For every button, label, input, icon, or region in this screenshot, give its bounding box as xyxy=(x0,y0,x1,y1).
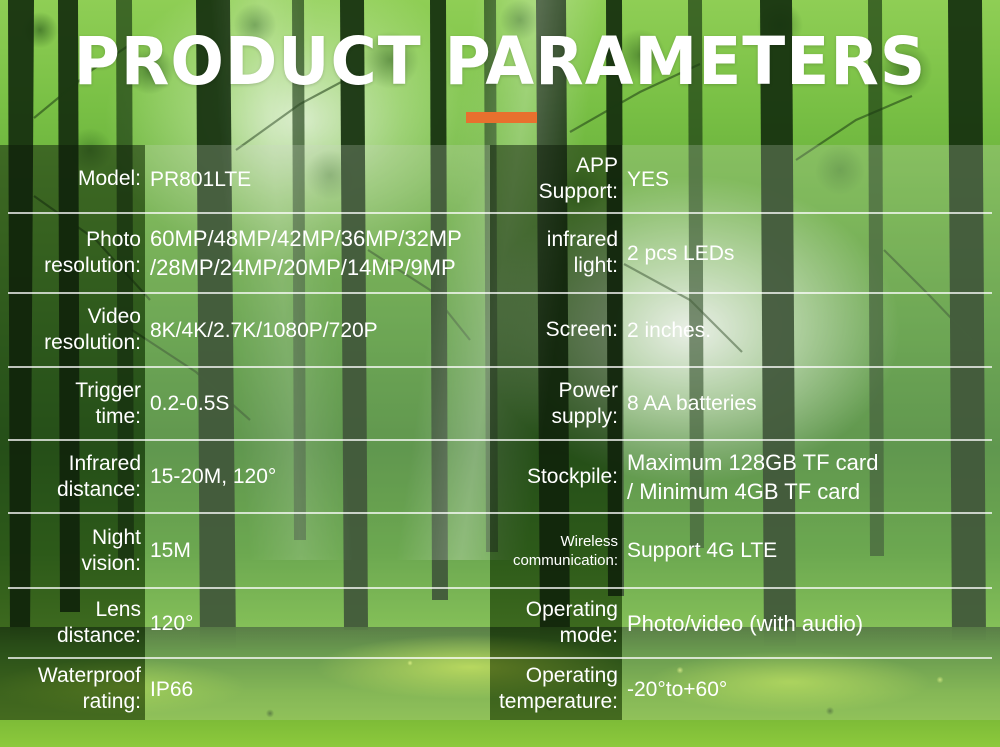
left-row-3-value: 0.2-0.5S xyxy=(145,367,495,440)
left-row-6-value: 120° xyxy=(145,588,495,658)
left-row-0-value: PR801LTE xyxy=(145,145,495,213)
left-row-4-label: Infrareddistance: xyxy=(0,440,145,513)
right-row-2-value: 2 inches. xyxy=(622,293,1000,367)
right-row-4-label: Stockpile: xyxy=(490,440,622,513)
right-row-5-value: Support 4G LTE xyxy=(622,513,1000,588)
right-row-1-value: 2 pcs LEDs xyxy=(622,213,1000,293)
left-row-5-value: 15M xyxy=(145,513,495,588)
right-row-2-label: Screen: xyxy=(490,293,622,367)
title-accent-bar xyxy=(466,112,537,123)
right-row-0-label: APPSupport: xyxy=(490,145,622,213)
right-row-3-label: Powersupply: xyxy=(490,367,622,440)
left-row-2-value: 8K/4K/2.7K/1080P/720P xyxy=(145,293,495,367)
left-row-7-value: IP66 xyxy=(145,658,495,720)
right-row-7-label: Operatingtemperature: xyxy=(490,658,622,720)
left-row-5-label: Nightvision: xyxy=(0,513,145,588)
left-row-0-label: Model: xyxy=(0,145,145,213)
right-row-6-value: Photo/video (with audio) xyxy=(622,588,1000,658)
row-divider-3 xyxy=(8,366,992,368)
right-row-6-label: Operatingmode: xyxy=(490,588,622,658)
right-row-4-value: Maximum 128GB TF card/ Minimum 4GB TF ca… xyxy=(622,440,1000,513)
right-row-5-label: Wirelesscommunication: xyxy=(490,513,622,588)
row-divider-5 xyxy=(8,512,992,514)
row-divider-6 xyxy=(8,587,992,589)
page-title: PRODUCT PARAMETERS xyxy=(0,24,1000,100)
row-divider-2 xyxy=(8,292,992,294)
right-row-7-value: -20°to+60° xyxy=(622,658,1000,720)
specifications-table: Model:PR801LTEPhotoresolution:60MP/48MP/… xyxy=(0,145,1000,720)
left-row-1-value: 60MP/48MP/42MP/36MP/32MP/28MP/24MP/20MP/… xyxy=(145,213,495,293)
left-row-4-value: 15-20M, 120° xyxy=(145,440,495,513)
row-divider-7 xyxy=(8,657,992,659)
row-divider-4 xyxy=(8,439,992,441)
product-parameters-infographic: PRODUCT PARAMETERS Model:PR801LTEPhotore… xyxy=(0,0,1000,747)
right-row-1-label: infraredlight: xyxy=(490,213,622,293)
left-row-3-label: Triggertime: xyxy=(0,367,145,440)
left-row-1-label: Photoresolution: xyxy=(0,213,145,293)
left-row-6-label: Lensdistance: xyxy=(0,588,145,658)
left-row-2-label: Videoresolution: xyxy=(0,293,145,367)
left-row-7-label: Waterproofrating: xyxy=(0,658,145,720)
right-row-3-value: 8 AA batteries xyxy=(622,367,1000,440)
row-divider-1 xyxy=(8,212,992,214)
right-row-0-value: YES xyxy=(622,145,1000,213)
